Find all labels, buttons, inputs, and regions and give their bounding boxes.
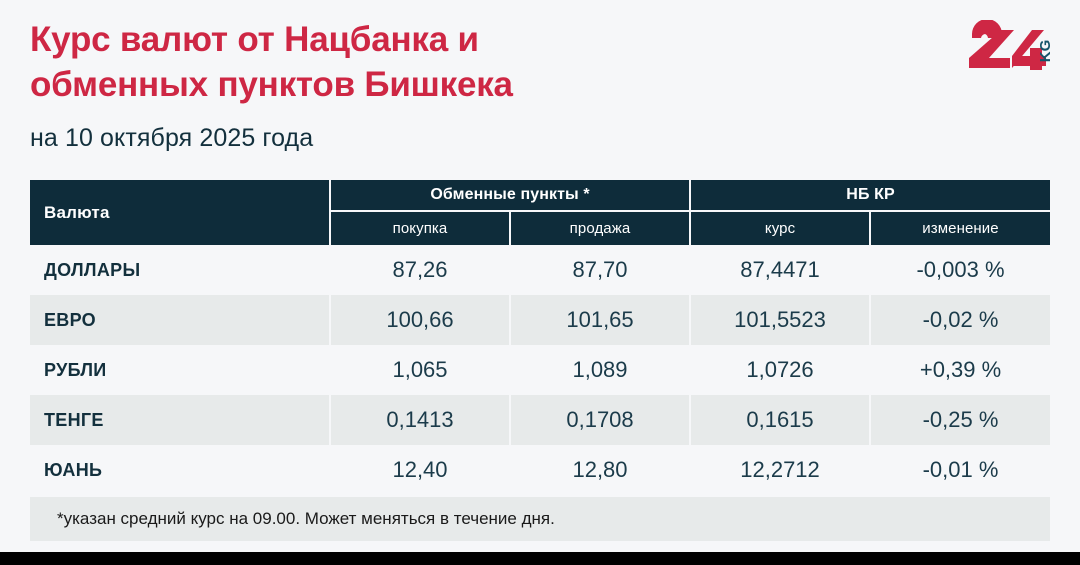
cell-buy: 100,66 <box>330 295 510 345</box>
cell-currency: РУБЛИ <box>30 345 330 395</box>
page-subtitle: на 10 октября 2025 года <box>30 124 930 153</box>
header-currency: Валюта <box>30 180 330 245</box>
table-head: Валюта Обменные пункты * НБ КР покупка п… <box>30 180 1050 245</box>
cell-currency: ЕВРО <box>30 295 330 345</box>
table-row: ЮАНЬ 12,40 12,80 12,2712 -0,01 % <box>30 445 1050 496</box>
rates-table: Валюта Обменные пункты * НБ КР покупка п… <box>30 180 1050 541</box>
cell-buy: 0,1413 <box>330 395 510 445</box>
cell-sell: 0,1708 <box>510 395 690 445</box>
cell-rate: 87,4471 <box>690 245 870 295</box>
table-row: ТЕНГЕ 0,1413 0,1708 0,1615 -0,25 % <box>30 395 1050 445</box>
cell-sell: 1,089 <box>510 345 690 395</box>
header-sub-sell: продажа <box>510 211 690 245</box>
table-head-row-groups: Валюта Обменные пункты * НБ КР <box>30 180 1050 211</box>
header-sub-rate: курс <box>690 211 870 245</box>
cell-sell: 12,80 <box>510 445 690 496</box>
cell-buy: 1,065 <box>330 345 510 395</box>
cell-sell: 101,65 <box>510 295 690 345</box>
cell-change: -0,02 % <box>870 295 1050 345</box>
cell-change: -0,003 % <box>870 245 1050 295</box>
logo-kg-text: KG <box>1037 40 1054 63</box>
logo-mark-icon: KG <box>968 20 1058 78</box>
table-body: ДОЛЛАРЫ 87,26 87,70 87,4471 -0,003 % ЕВР… <box>30 245 1050 496</box>
table-row: ЕВРО 100,66 101,65 101,5523 -0,02 % <box>30 295 1050 345</box>
cell-rate: 1,0726 <box>690 345 870 395</box>
cell-currency: ЮАНЬ <box>30 445 330 496</box>
cell-buy: 12,40 <box>330 445 510 496</box>
rates-table-wrapper: Валюта Обменные пункты * НБ КР покупка п… <box>30 180 1050 541</box>
header-sub-buy: покупка <box>330 211 510 245</box>
24kg-logo: KG <box>968 20 1058 78</box>
cell-change: +0,39 % <box>870 345 1050 395</box>
cell-change: -0,25 % <box>870 395 1050 445</box>
header-group-nbkr: НБ КР <box>690 180 1050 211</box>
header-group-exchange: Обменные пункты * <box>330 180 690 211</box>
page-title: Курс валют от Нацбанка и обменных пункто… <box>30 18 930 108</box>
cell-buy: 87,26 <box>330 245 510 295</box>
cell-rate: 12,2712 <box>690 445 870 496</box>
bottom-bar <box>0 552 1080 565</box>
cell-currency: ТЕНГЕ <box>30 395 330 445</box>
cell-rate: 101,5523 <box>690 295 870 345</box>
cell-rate: 0,1615 <box>690 395 870 445</box>
footnote-text: *указан средний курс на 09.00. Может мен… <box>30 496 1050 541</box>
cell-change: -0,01 % <box>870 445 1050 496</box>
table-row: ДОЛЛАРЫ 87,26 87,70 87,4471 -0,003 % <box>30 245 1050 295</box>
header-block: Курс валют от Нацбанка и обменных пункто… <box>30 18 930 153</box>
footnote-row: *указан средний курс на 09.00. Может мен… <box>30 496 1050 541</box>
header-sub-change: изменение <box>870 211 1050 245</box>
table-foot: *указан средний курс на 09.00. Может мен… <box>30 496 1050 541</box>
table-row: РУБЛИ 1,065 1,089 1,0726 +0,39 % <box>30 345 1050 395</box>
cell-currency: ДОЛЛАРЫ <box>30 245 330 295</box>
cell-sell: 87,70 <box>510 245 690 295</box>
currency-rates-infographic: Курс валют от Нацбанка и обменных пункто… <box>0 0 1080 565</box>
